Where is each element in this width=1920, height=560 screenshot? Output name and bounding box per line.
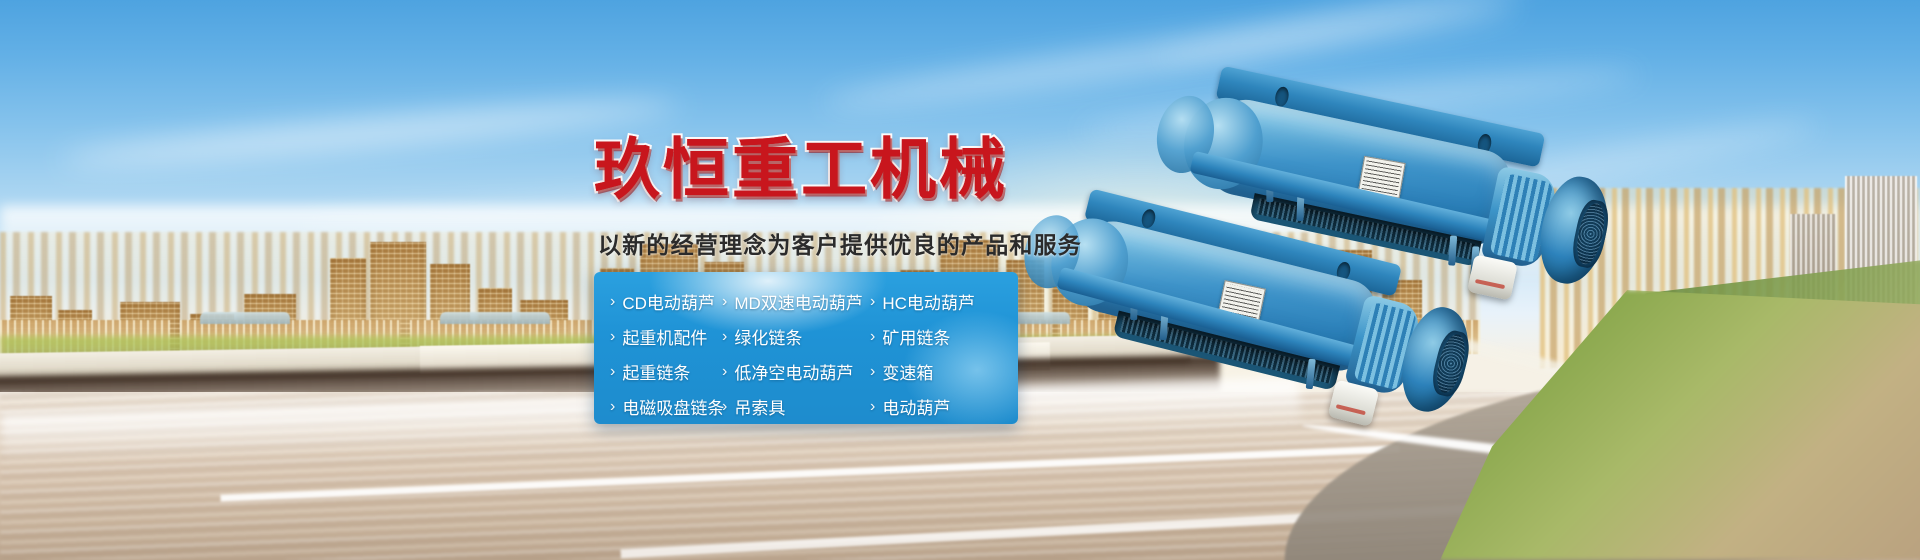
product-link-label: 绿化链条 [734, 324, 802, 349]
chevron-right-icon: › [870, 363, 875, 381]
product-link[interactable]: › 起重链条 [610, 359, 722, 384]
chevron-right-icon: › [870, 293, 875, 311]
product-link[interactable]: › 低净空电动葫芦 [722, 359, 870, 384]
product-link-label: CD电动葫芦 [622, 289, 715, 314]
product-link-label: 低净空电动葫芦 [734, 359, 853, 384]
product-link[interactable]: › 变速箱 [870, 359, 1010, 384]
product-link[interactable]: › 电动葫芦 [870, 394, 1010, 419]
product-row: › 起重机配件 › 绿化链条 › 矿用链条 [610, 319, 1018, 354]
product-link[interactable]: › 矿用链条 [870, 324, 1010, 349]
promo-banner: 玖恒重工机械 玖恒重工机械 以新的经营理念为客户提供优良的产品和服务 › CD电… [0, 0, 1920, 560]
product-links-grid: › CD电动葫芦 › MD双速电动葫芦 › HC电动葫芦 › 起重机配件 [594, 272, 1018, 424]
page-subtitle: 以新的经营理念为客户提供优良的产品和服务 [598, 226, 1082, 260]
chevron-right-icon: › [722, 398, 727, 416]
chevron-right-icon: › [722, 293, 727, 311]
page-title: 玖恒重工机械 [594, 136, 1008, 202]
product-links-panel: › CD电动葫芦 › MD双速电动葫芦 › HC电动葫芦 › 起重机配件 [594, 272, 1018, 424]
product-link-label: 电动葫芦 [882, 394, 950, 419]
product-link[interactable]: › 电磁吸盘链条 [610, 394, 722, 419]
product-link-label: 电磁吸盘链条 [622, 394, 724, 419]
product-link[interactable]: › MD双速电动葫芦 [722, 289, 870, 314]
product-link-label: 起重机配件 [622, 324, 707, 349]
product-link[interactable]: › 绿化链条 [722, 324, 870, 349]
product-link[interactable]: › HC电动葫芦 [870, 289, 1010, 314]
chevron-right-icon: › [610, 363, 615, 381]
product-link-label: MD双速电动葫芦 [734, 289, 862, 314]
product-row: › CD电动葫芦 › MD双速电动葫芦 › HC电动葫芦 [610, 284, 1018, 319]
chevron-right-icon: › [610, 328, 615, 346]
product-link-label: HC电动葫芦 [882, 289, 975, 314]
product-link-label: 吊索具 [734, 394, 785, 419]
product-link-label: 矿用链条 [882, 324, 950, 349]
chevron-right-icon: › [870, 328, 875, 346]
product-link-label: 变速箱 [882, 359, 933, 384]
product-link[interactable]: › 起重机配件 [610, 324, 722, 349]
product-link[interactable]: › 吊索具 [722, 394, 870, 419]
chevron-right-icon: › [870, 398, 875, 416]
chevron-right-icon: › [610, 398, 615, 416]
product-row: › 起重链条 › 低净空电动葫芦 › 变速箱 [610, 354, 1018, 389]
chevron-right-icon: › [722, 363, 727, 381]
product-link[interactable]: › CD电动葫芦 [610, 289, 722, 314]
chevron-right-icon: › [610, 293, 615, 311]
product-link-label: 起重链条 [622, 359, 690, 384]
product-row: › 电磁吸盘链条 › 吊索具 › 电动葫芦 [610, 389, 1018, 424]
chevron-right-icon: › [722, 328, 727, 346]
